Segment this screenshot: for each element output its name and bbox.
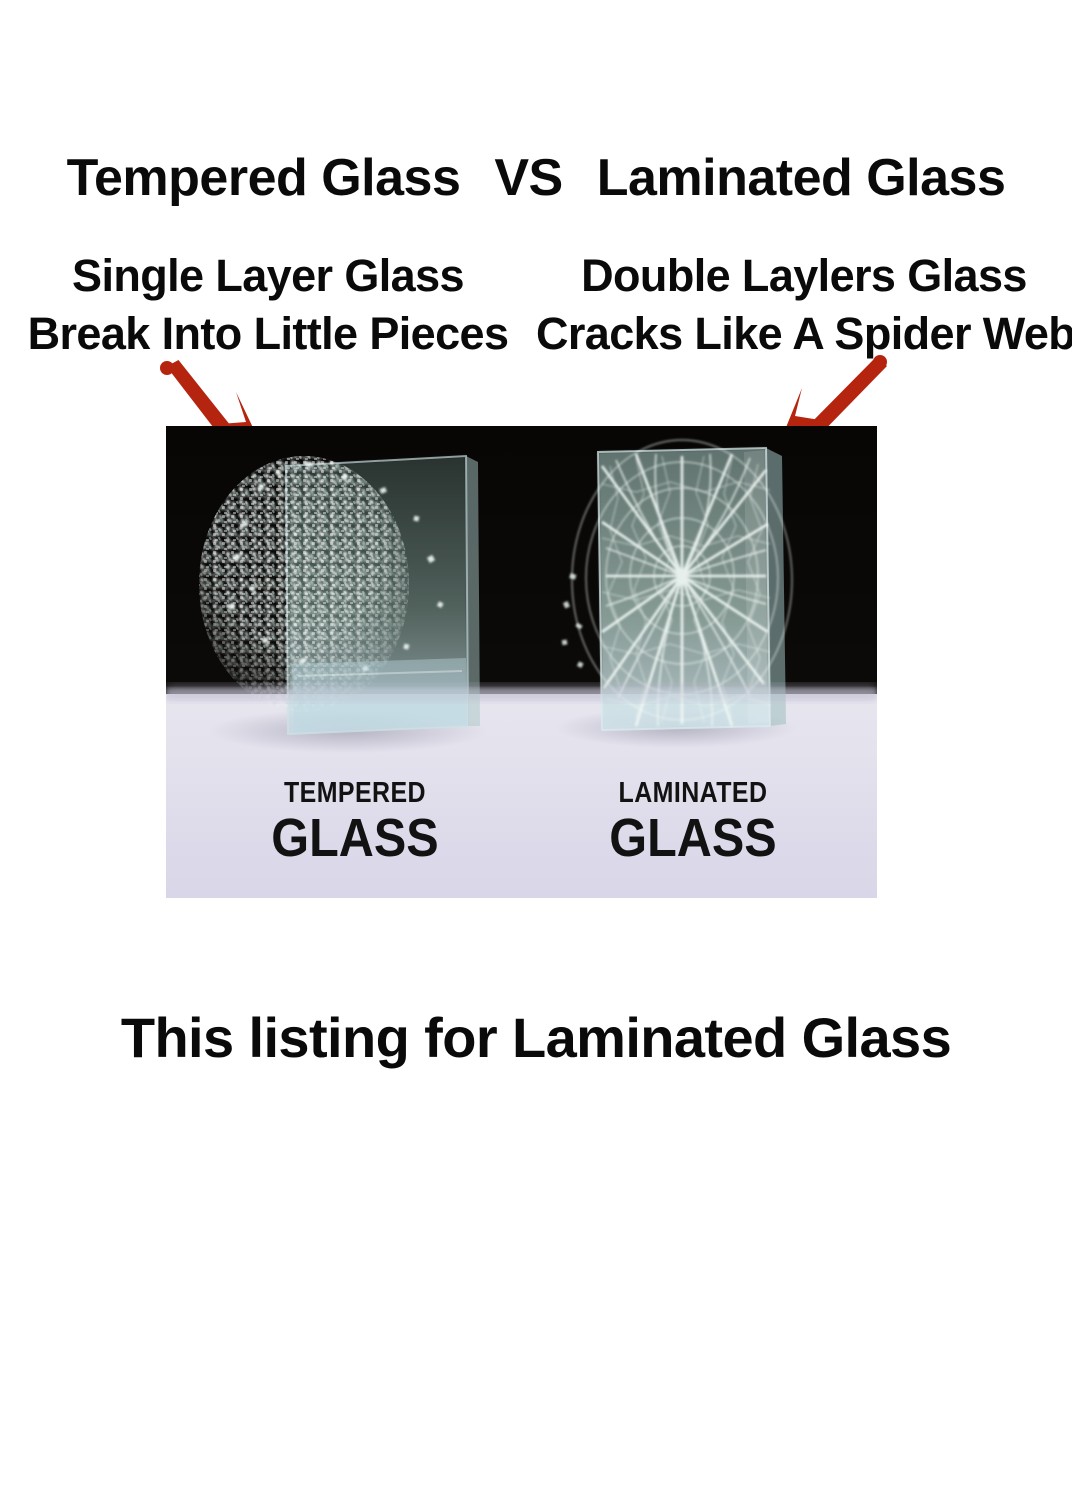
title-left-product: Tempered Glass <box>67 149 461 207</box>
page-title: Tempered GlassVSLaminated Glass <box>0 149 1072 207</box>
tempered-glass-pane <box>186 434 488 753</box>
left-column-line-2: Break Into Little Pieces <box>0 308 536 360</box>
listing-note: This listing for Laminated Glass <box>0 1005 1072 1071</box>
glass-comparison-photo: TEMPERED GLASS LAMINATED GLASS <box>166 426 877 898</box>
page-canvas: Tempered GlassVSLaminated Glass Single L… <box>0 0 1072 1500</box>
right-column-line-2: Cracks Like A Spider Web <box>536 308 1072 360</box>
photo-caption-laminated-bottom: GLASS <box>545 811 842 865</box>
title-right-product: Laminated Glass <box>597 149 1006 207</box>
right-column-line-1: Double Laylers Glass <box>536 250 1072 302</box>
photo-caption-laminated: LAMINATED GLASS <box>528 778 858 865</box>
photo-caption-tempered-bottom: GLASS <box>207 811 504 865</box>
photo-caption-tempered-top: TEMPERED <box>213 778 497 809</box>
left-column-line-1: Single Layer Glass <box>0 250 536 302</box>
photo-caption-laminated-top: LAMINATED <box>551 778 835 809</box>
title-versus: VS <box>494 149 562 207</box>
photo-caption-tempered: TEMPERED GLASS <box>190 778 520 865</box>
